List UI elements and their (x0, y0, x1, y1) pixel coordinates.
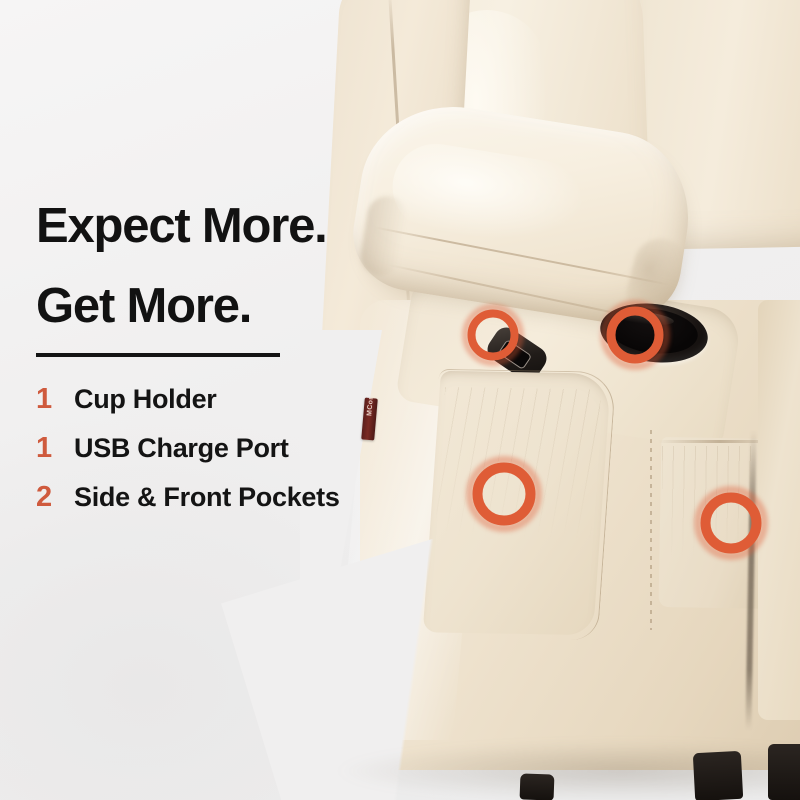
feature-count: 1 (30, 434, 74, 463)
sofa-foot-center (693, 751, 743, 800)
feature-row: 1USB Charge Port (30, 434, 390, 483)
headline-line-2: Get More. (36, 282, 251, 331)
feature-row: 2Side & Front Pockets (30, 483, 390, 532)
feature-label: Cup Holder (74, 386, 217, 413)
sofa-side-panel (758, 300, 800, 720)
sofa-foot-front (520, 773, 555, 800)
feature-row: 1Cup Holder (30, 385, 390, 434)
sofa-foot-right (768, 744, 800, 800)
product-feature-callout-image: MCombo Expect More. Get More. 1Cup Holde… (0, 0, 800, 800)
feature-count: 2 (30, 483, 74, 512)
feature-list: 1Cup Holder1USB Charge Port2Side & Front… (30, 385, 390, 532)
feature-label: Side & Front Pockets (74, 484, 340, 511)
feature-label: USB Charge Port (74, 435, 289, 462)
side-pocket-stitch-line (650, 430, 652, 630)
headline-line-1: Expect More. (36, 202, 327, 251)
divider-rule (36, 353, 280, 357)
feature-count: 1 (30, 385, 74, 414)
